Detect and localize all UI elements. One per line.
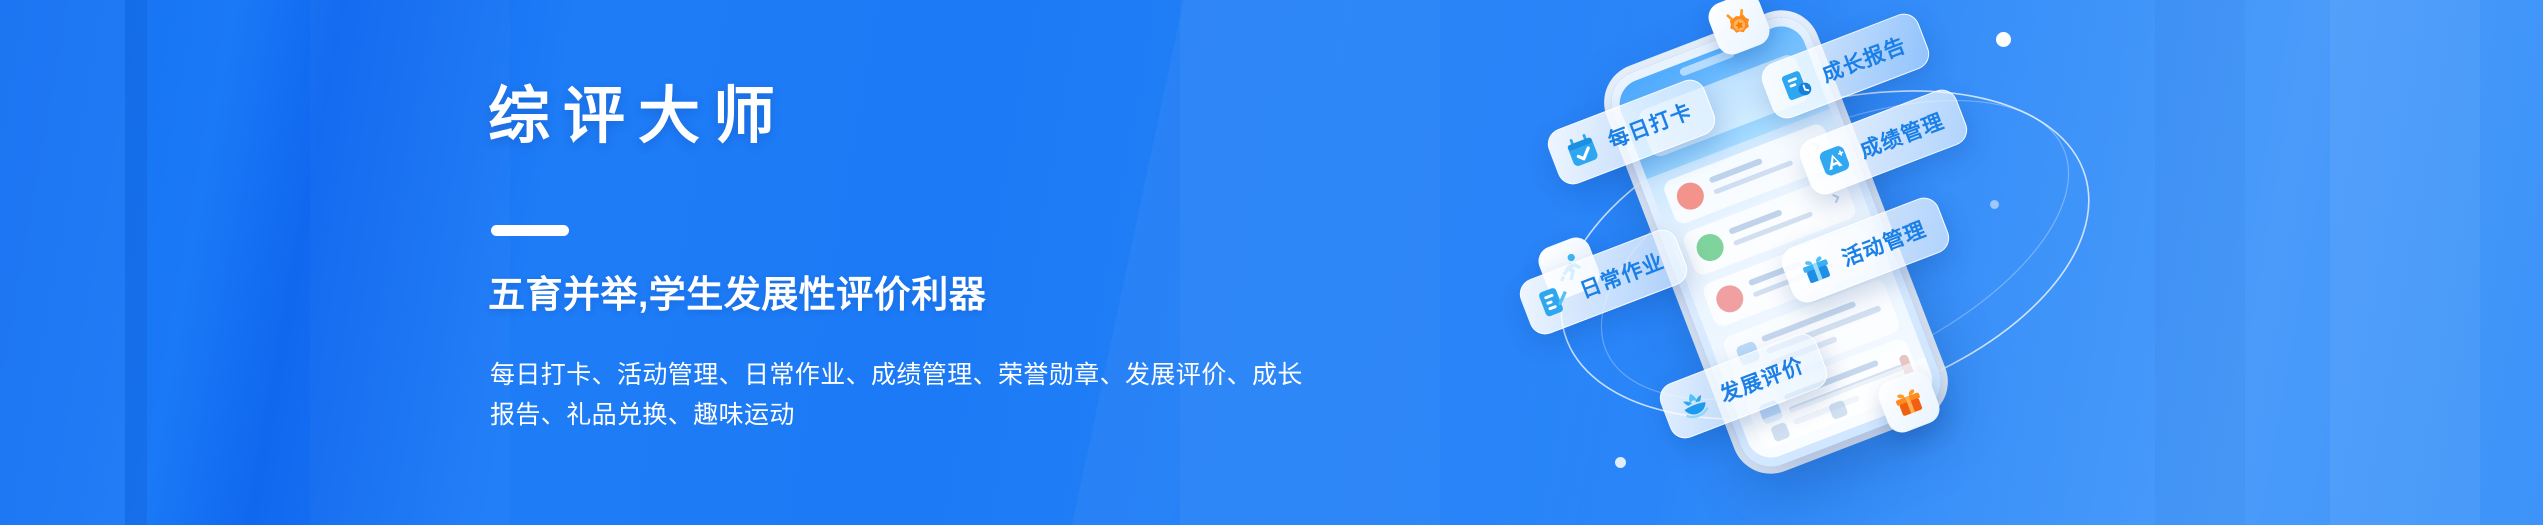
tabbar-icon xyxy=(1770,422,1791,443)
description-line: 每日打卡、活动管理、日常作业、成绩管理、荣誉勋章、发展评价、成长 xyxy=(490,355,1370,395)
grade-a-icon xyxy=(1813,139,1857,183)
decor-dot xyxy=(1990,200,1999,209)
background-band xyxy=(2330,0,2480,525)
gift-orange-icon xyxy=(1887,380,1931,424)
list-item-title xyxy=(1709,158,1763,184)
banner-copy: 综评大师 五育并举,学生发展性评价利器 每日打卡、活动管理、日常作业、成绩管理、… xyxy=(488,0,1388,525)
chevron-right-icon xyxy=(1830,194,1839,203)
banner-description: 每日打卡、活动管理、日常作业、成绩管理、荣誉勋章、发展评价、成长 报告、礼品兑换… xyxy=(490,355,1370,435)
list-item-icon xyxy=(1693,230,1728,265)
background-band xyxy=(125,0,147,525)
banner-subtitle: 五育并举,学生发展性评价利器 xyxy=(488,272,986,318)
list-item-title xyxy=(1728,209,1782,235)
background-band xyxy=(2155,0,2245,525)
report-icon xyxy=(1775,63,1819,107)
page-title: 综评大师 xyxy=(488,86,788,148)
decor-dot xyxy=(1615,457,1626,468)
product-illustration: 成长报告 成绩管理 每日打卡 xyxy=(1500,0,2160,525)
title-divider xyxy=(491,225,569,236)
homework-icon xyxy=(1533,279,1577,323)
background-band xyxy=(0,0,125,525)
lotus-icon xyxy=(1673,383,1717,427)
background-band xyxy=(310,0,510,525)
tabbar-icon xyxy=(1828,399,1849,420)
list-item-icon xyxy=(1673,179,1708,214)
calendar-check-icon xyxy=(1561,129,1605,173)
list-item-icon xyxy=(1712,281,1747,316)
decor-dot xyxy=(1996,32,2011,47)
description-line: 报告、礼品兑换、趣味运动 xyxy=(490,395,1370,435)
gift-blue-icon xyxy=(1795,247,1839,291)
promo-banner: 综评大师 五育并举,学生发展性评价利器 每日打卡、活动管理、日常作业、成绩管理、… xyxy=(0,0,2543,525)
medal-icon xyxy=(1717,2,1761,46)
